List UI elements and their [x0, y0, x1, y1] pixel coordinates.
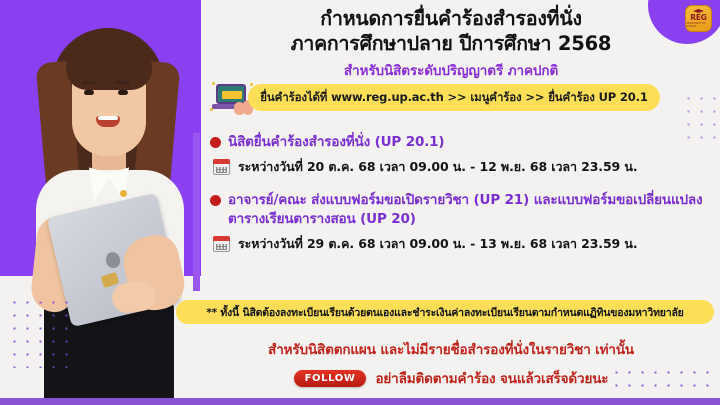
page-title-line2: ภาคการศึกษาปลาย ปีการศึกษา 2568	[201, 31, 701, 56]
footer-block: สำหรับนิสิตตกแผน และไม่มีรายชื่อสำรองที่…	[201, 338, 701, 389]
bullet-row: นิสิตยื่นคำร้องสำรองที่นั่ง (UP 20.1)	[210, 133, 713, 152]
bullet-dot-icon	[210, 195, 221, 206]
url-banner-text: ยื่นคำร้องได้ที่ www.reg.up.ac.th >> เมน…	[260, 89, 647, 107]
eyebrow-left	[82, 81, 95, 84]
hair-fringe	[66, 38, 152, 90]
eyebrow-right	[117, 81, 130, 84]
note-banner: ** ทั้งนี้ นิสิตต้องลงทะเบียนเรียนด้วยตน…	[176, 300, 714, 324]
uniform-pin	[120, 190, 127, 197]
date-row: ระหว่างวันที่ 20 ต.ค. 68 เวลา 09.00 น. -…	[213, 157, 713, 177]
calendar-icon	[213, 236, 230, 252]
follow-badge[interactable]: FOLLOW	[294, 370, 367, 387]
list-item: นิสิตยื่นคำร้องสำรองที่นั่ง (UP 20.1) ระ…	[210, 133, 713, 177]
footer-line-2: อย่าลืมติดตามคำร้อง จนแล้วเสร็จด้วยนะ	[375, 367, 608, 389]
footer-line-1: สำหรับนิสิตตกแผน และไม่มีรายชื่อสำรองที่…	[201, 338, 701, 360]
date-row: ระหว่างวันที่ 29 ต.ค. 68 เวลา 09.00 น. -…	[213, 234, 713, 254]
bullet-dot-icon	[210, 137, 221, 148]
note-banner-text: ** ทั้งนี้ นิสิตต้องลงทะเบียนเรียนด้วยตน…	[206, 304, 683, 321]
schedule-list: นิสิตยื่นคำร้องสำรองที่นั่ง (UP 20.1) ระ…	[193, 133, 713, 291]
header-block: กำหนดการยื่นคำร้องสำรองที่นั่ง ภาคการศึก…	[201, 6, 701, 81]
sparkle-2	[250, 83, 253, 86]
page-title-line1: กำหนดการยื่นคำร้องสำรองที่นั่ง	[201, 6, 701, 31]
eye-right	[118, 90, 128, 95]
calendar-icon	[213, 159, 230, 175]
footer-line-2-row: FOLLOW อย่าลืมติดตามคำร้อง จนแล้วเสร็จด้…	[201, 367, 701, 389]
date-label: ระหว่างวันที่ 20 ต.ค. 68 เวลา 09.00 น. -…	[238, 157, 638, 177]
laptop-screen	[216, 84, 246, 104]
poster-canvas: REG UNIVERSITY OF PHAYAO กำหนดการยื่นคำร…	[0, 0, 720, 405]
bullet-row: อาจารย์/คณะ ส่งแบบฟอร์มขอเปิดรายวิชา (UP…	[210, 191, 713, 210]
url-banner[interactable]: ยื่นคำร้องได้ที่ www.reg.up.ac.th >> เมน…	[248, 84, 660, 111]
eye-left	[84, 90, 94, 95]
bullet-label-continued: ตารางเรียนตารางสอน (UP 20)	[228, 210, 713, 229]
page-subtitle: สำหรับนิสิตระดับปริญญาตรี ภาคปกติ	[201, 59, 701, 81]
date-label: ระหว่างวันที่ 29 ต.ค. 68 เวลา 09.00 น. -…	[238, 234, 638, 254]
bottom-accent-bar	[0, 398, 720, 405]
bullet-label: อาจารย์/คณะ ส่งแบบฟอร์มขอเปิดรายวิชา (UP…	[228, 191, 703, 210]
sparkle-1	[212, 82, 215, 85]
bullet-label: นิสิตยื่นคำร้องสำรองที่นั่ง (UP 20.1)	[228, 133, 444, 152]
spacer	[210, 177, 713, 191]
dot-grid-bottom-left	[8, 296, 78, 368]
mouth	[96, 116, 120, 127]
list-item: อาจารย์/คณะ ส่งแบบฟอร์มขอเปิดรายวิชา (UP…	[210, 191, 713, 254]
